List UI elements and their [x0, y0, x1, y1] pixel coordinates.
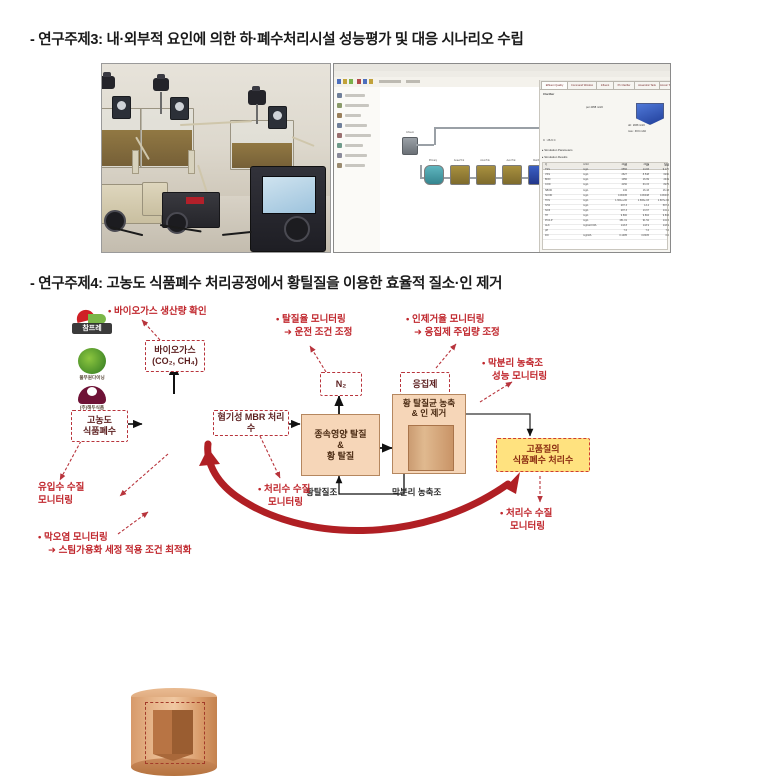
- logo-chamfre-caption: 참프레: [66, 323, 118, 334]
- cell-parameter: NO3: [545, 209, 581, 212]
- cell-eff: 63.15: [629, 183, 649, 186]
- cell-was: 1.607e-06: [651, 199, 669, 202]
- stirrer-controller-3: [268, 106, 287, 129]
- cell-inf: 6556: [607, 168, 627, 171]
- stirrer-controller-2: [170, 97, 189, 120]
- cell-was: 141.1: [651, 209, 669, 212]
- cell-eff: 16.43: [629, 189, 649, 192]
- box-biogas: 바이오가스 (CO₂, CH₄): [145, 340, 205, 372]
- cell-unit: mg/L: [583, 168, 605, 171]
- cell-parameter: NH4: [545, 204, 581, 207]
- cell-unit: mg/L: [583, 178, 605, 181]
- cell-eff: 91.52: [629, 219, 649, 222]
- cell-inf: 9.800: [607, 214, 627, 217]
- logo-pulmuone-dining: 풀무원다이닝: [68, 348, 116, 382]
- box-biogas-line2: (CO₂, CH₄): [152, 356, 198, 367]
- cell-unit: m3/d: [583, 163, 605, 166]
- cell-inf: 151.01: [607, 219, 627, 222]
- cell-eff: 16.99: [629, 178, 649, 181]
- cell-unit: mg/L: [583, 199, 605, 202]
- cell-parameter: BOD: [545, 178, 581, 181]
- cell-inf: 297.3: [607, 209, 627, 212]
- box-influent-line2: 식품폐수: [83, 426, 116, 437]
- proc-thicken-line1: 황 탈질균 농축: [403, 398, 455, 408]
- unit-anaerobic[interactable]: [450, 165, 470, 185]
- stirrer-motor-1: [101, 76, 115, 89]
- cell-unit: mgCaCO3/L: [583, 224, 605, 227]
- box-coagulant: 응집제: [400, 372, 450, 396]
- flow-label-main: per 4058 m3/d: [586, 106, 603, 109]
- process-sulfur-denitrification: 종속영양 탈질 & 황 탈질: [301, 414, 380, 476]
- note-membrane-performance-2: 성능 모니터링: [492, 371, 547, 383]
- cell-inf: 1.601e+00: [607, 199, 627, 202]
- section-simulation-results[interactable]: ▸ Simulation Results: [542, 155, 567, 159]
- cell-inf: 1050: [607, 178, 627, 181]
- box-final-water-line1: 고품질의: [526, 444, 559, 455]
- proc-denit-line1: 종속영양 탈질: [314, 429, 366, 440]
- section-label-parameters: Simulation Parameters: [544, 148, 572, 152]
- cell-unit: mg/L: [583, 194, 605, 197]
- cell-was: 597.3: [651, 204, 669, 207]
- lab-photo: [101, 63, 331, 253]
- model-tree-panel[interactable]: [334, 87, 381, 252]
- unit-aerobic[interactable]: [502, 165, 522, 185]
- stirrer-shaft-2: [160, 92, 162, 114]
- cell-unit: mg/L: [583, 183, 605, 186]
- process-flowsheet-canvas[interactable]: Primary AnaerTnk AnoxTnk AeroTnk Clarifr…: [380, 87, 540, 252]
- cell-parameter: ALK: [545, 224, 581, 227]
- cell-parameter: TSS: [545, 168, 581, 171]
- cell-eff: 0.06048: [629, 194, 649, 197]
- cell-inf: 0.1485: [607, 234, 627, 237]
- pump-display-1: [186, 197, 204, 204]
- panel-title: Clarifier: [543, 92, 554, 96]
- clarifier-graphic: [636, 103, 664, 125]
- cell-was: 141.5: [651, 219, 669, 222]
- note-membrane-fouling-1: • 막오염 모니터링: [38, 532, 108, 544]
- note-influent-quality-2: 모니터링: [38, 495, 73, 507]
- cell-parameter: SBOD: [545, 189, 581, 192]
- cell-was: 7.6: [651, 229, 669, 232]
- cell-inf: 143.8: [607, 224, 627, 227]
- cell-was: 143.9: [651, 224, 669, 227]
- cell-was: 9.170: [651, 168, 669, 171]
- influent-unit-icon[interactable]: [402, 137, 418, 155]
- note-p-removal-2: ➜ 응집제 주입량 조정: [414, 327, 500, 339]
- anaerobic-mbr-reactor: [131, 688, 217, 776]
- tab-influent[interactable]: Influent: [596, 81, 614, 90]
- cell-inf: 0.06045: [607, 194, 627, 197]
- stirrer-controller-1: [112, 96, 131, 119]
- cell-was: 6230: [651, 173, 669, 176]
- box-influent: 고농도 식품폐수: [71, 410, 128, 442]
- results-table[interactable]: inf eff was Qm3/d4408200953.0TSSmg/L6556…: [542, 162, 668, 250]
- process-membrane-thickener: 황 탈질균 농축 & 인 제거: [392, 394, 466, 474]
- simulation-software-window[interactable]: Primary AnaerTnk AnoxTnk AeroTnk Clarifr…: [333, 63, 671, 253]
- pump-head-2: [166, 212, 188, 234]
- cell-eff: 14.83: [629, 168, 649, 171]
- cell-eff: 9.804: [629, 214, 649, 217]
- note-final-effluent-quality-2: 모니터링: [510, 521, 545, 533]
- results-panel[interactable]: Effluent Quality Command Window Influent…: [539, 80, 670, 252]
- cell-inf: 4150: [607, 183, 627, 186]
- cell-parameter: TKN: [545, 199, 581, 202]
- cell-eff: 1.606e-03: [629, 199, 649, 202]
- note-denitrification-2: ➜ 운전 조건 조정: [284, 327, 352, 339]
- box-influent-line1: 고농도: [87, 415, 112, 426]
- note-denitrification-1: • 탈질율 모니터링: [276, 314, 346, 326]
- proc-thicken-line2: & 인 제거: [412, 408, 447, 418]
- proc-denit-line2: &: [337, 440, 344, 451]
- sample-bottle-1: [132, 150, 139, 174]
- logo-pulmuone-caption: 풀무원다이닝: [68, 375, 116, 381]
- cell-inf: 4408: [607, 163, 627, 166]
- cell-eff: 13.4: [629, 204, 649, 207]
- cell-unit: mg/L: [583, 209, 605, 212]
- stirrer-shaft-3: [256, 104, 258, 124]
- note-influent-quality-1: 유입수 수질: [38, 482, 84, 494]
- cell-was: 9.833: [651, 214, 669, 217]
- cell-was: 53.0: [651, 163, 669, 166]
- label-sulfur-denit-tank: 황탈질조: [306, 486, 337, 498]
- cell-was: 0.0: [651, 234, 669, 237]
- temperature-label: C : 26.6 C: [543, 138, 556, 142]
- box-n2: N₂: [320, 372, 362, 396]
- flow-label-3: max : 38.9 m3/d: [628, 130, 646, 133]
- cell-eff: 13.67: [629, 209, 649, 212]
- cell-unit: mg/L: [583, 173, 605, 176]
- cell-inf: 132: [607, 189, 627, 192]
- cell-eff: 143.9: [629, 224, 649, 227]
- cell-eff: 2009: [629, 163, 649, 166]
- cell-unit: mg/L: [583, 189, 605, 192]
- tab-anaerobic-tank[interactable]: Anaerobic Tank: [634, 81, 660, 90]
- note-membrane-fouling-2: ➜ 스팀가용화 세정 적용 조건 최적화: [48, 545, 192, 557]
- cell-eff: 7.6: [629, 229, 649, 232]
- box-mbr-effluent: 혐기성 MBR 처리수: [213, 410, 289, 436]
- cell-inf: 2627: [607, 173, 627, 176]
- tab-anoxic-tank[interactable]: Anoxic Tank: [659, 81, 671, 90]
- box-final-water-line2: 식품폐수 처리수: [513, 455, 573, 466]
- unit-anoxic[interactable]: [476, 165, 496, 185]
- cell-unit: mg/L: [583, 219, 605, 222]
- cell-unit: mgO2/L: [583, 234, 605, 237]
- membrane-module: [153, 710, 193, 760]
- note-mbr-effluent-quality-1: • 처리수 수질: [258, 484, 310, 496]
- cell-parameter: DO: [545, 234, 581, 237]
- slide-canvas: - 연구주제3: 내·외부적 요인에 의한 하·폐수처리시설 성능평가 및 대응…: [0, 0, 768, 576]
- label-membrane-thickener-tank: 막분리 농축조: [392, 486, 441, 498]
- cell-parameter: PO4-P: [545, 219, 581, 222]
- process-diagram: 참프레 풀무원다이닝 (주)해두식품 바이오가스 (CO₂, CH₄): [0, 296, 768, 576]
- tab-p1-clarifier[interactable]: P1 Clarifier: [613, 81, 635, 90]
- stirrer-motor-3: [248, 90, 266, 105]
- cell-parameter: TP: [545, 214, 581, 217]
- tab-command-window[interactable]: Command Window: [567, 81, 597, 90]
- heading-topic-3: - 연구주제3: 내·외부적 요인에 의한 하·폐수처리시설 성능평가 및 대응…: [30, 28, 523, 49]
- cell-was: 8275: [651, 183, 669, 186]
- cell-inf: 297.3: [607, 204, 627, 207]
- cell-parameter: COD: [545, 183, 581, 186]
- box-biogas-line1: 바이오가스: [154, 345, 195, 356]
- cell-was: 16.43: [651, 189, 669, 192]
- tab-effluent-quality[interactable]: Effluent Quality: [541, 81, 568, 90]
- unit-primary[interactable]: [424, 165, 444, 185]
- proc-denit-line3: 황 탈질: [327, 451, 354, 462]
- pump-head-3: [284, 216, 310, 242]
- section-simulation-parameters[interactable]: ▸ Simulation Parameters: [542, 148, 572, 152]
- flow-label-2: dd : 2838 m3/d: [628, 124, 645, 127]
- heading-topic-4: - 연구주제4: 고농도 식품폐수 처리공정에서 황틸질을 이용한 효율적 질소…: [30, 272, 502, 293]
- controller-screen: [262, 176, 316, 214]
- box-final-water: 고품질의 식품폐수 처리수: [496, 438, 590, 472]
- section-label-results: Simulation Results: [544, 155, 567, 159]
- note-membrane-performance-1: • 막분리 농축조: [482, 358, 543, 370]
- results-table-row[interactable]: DOmgO2/L0.14850.84050.0: [543, 234, 667, 240]
- note-final-effluent-quality-1: • 처리수 수질: [500, 508, 552, 520]
- note-p-removal-1: • 인제거율 모니터링: [406, 314, 485, 326]
- membrane-thickener-module: [408, 425, 454, 471]
- cell-eff: 0.8405: [629, 234, 649, 237]
- note-biogas: • 바이오가스 생산량 확인: [108, 306, 207, 318]
- sample-bottle-2: [188, 150, 195, 174]
- cell-unit: mg/L: [583, 204, 605, 207]
- note-mbr-effluent-quality-2: 모니터링: [268, 497, 303, 509]
- cell-unit: mg/L: [583, 214, 605, 217]
- cell-parameter: SCOD: [545, 194, 581, 197]
- cell-parameter: pH: [545, 229, 581, 232]
- results-tab-bar[interactable]: Effluent Quality Command Window Influent…: [540, 80, 670, 90]
- cell-eff: 8.548: [629, 173, 649, 176]
- cell-parameter: VSS: [545, 173, 581, 176]
- cell-parameter: Q: [545, 163, 581, 166]
- cell-inf: 7.6: [607, 229, 627, 232]
- cell-was: 0.06047: [651, 194, 669, 197]
- cell-was: 2449: [651, 178, 669, 181]
- stirrer-motor-2: [153, 78, 169, 91]
